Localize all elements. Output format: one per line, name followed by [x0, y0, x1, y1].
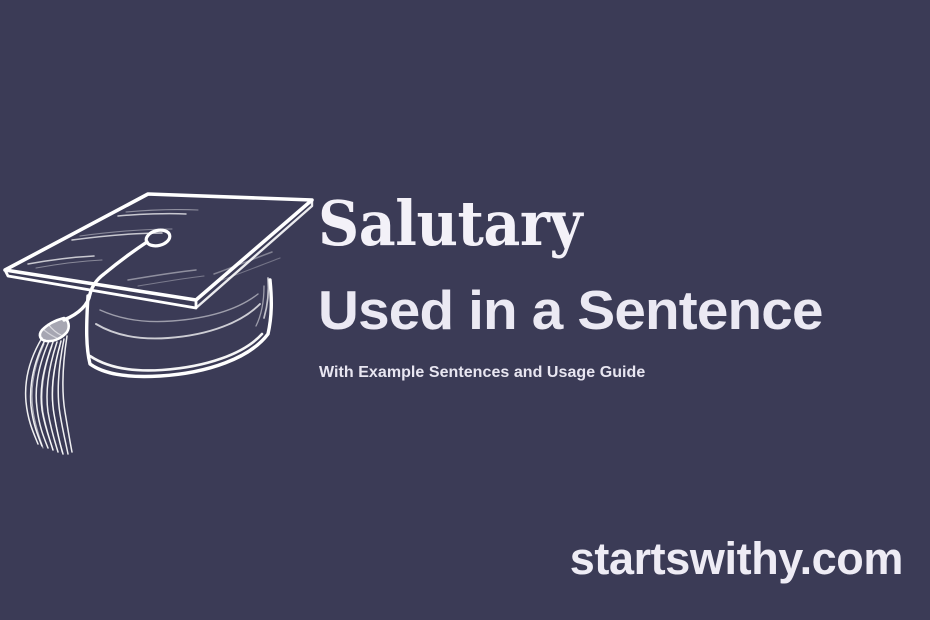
board-hatching [28, 210, 280, 286]
cap-button-icon [145, 228, 172, 248]
tassel-knot [40, 318, 69, 341]
graduation-cap-sketch-icon [0, 168, 320, 458]
mortarboard-board [5, 194, 312, 308]
page-title: Used in a Sentence [318, 278, 922, 342]
brand-domain: startswithy.com [570, 533, 903, 585]
page-subtitle: With Example Sentences and Usage Guide [319, 362, 904, 384]
share-card: Salutary Used in a Sentence With Example… [0, 0, 930, 620]
word-title: Salutary [318, 188, 857, 260]
text-block: Salutary Used in a Sentence With Example… [318, 188, 904, 384]
